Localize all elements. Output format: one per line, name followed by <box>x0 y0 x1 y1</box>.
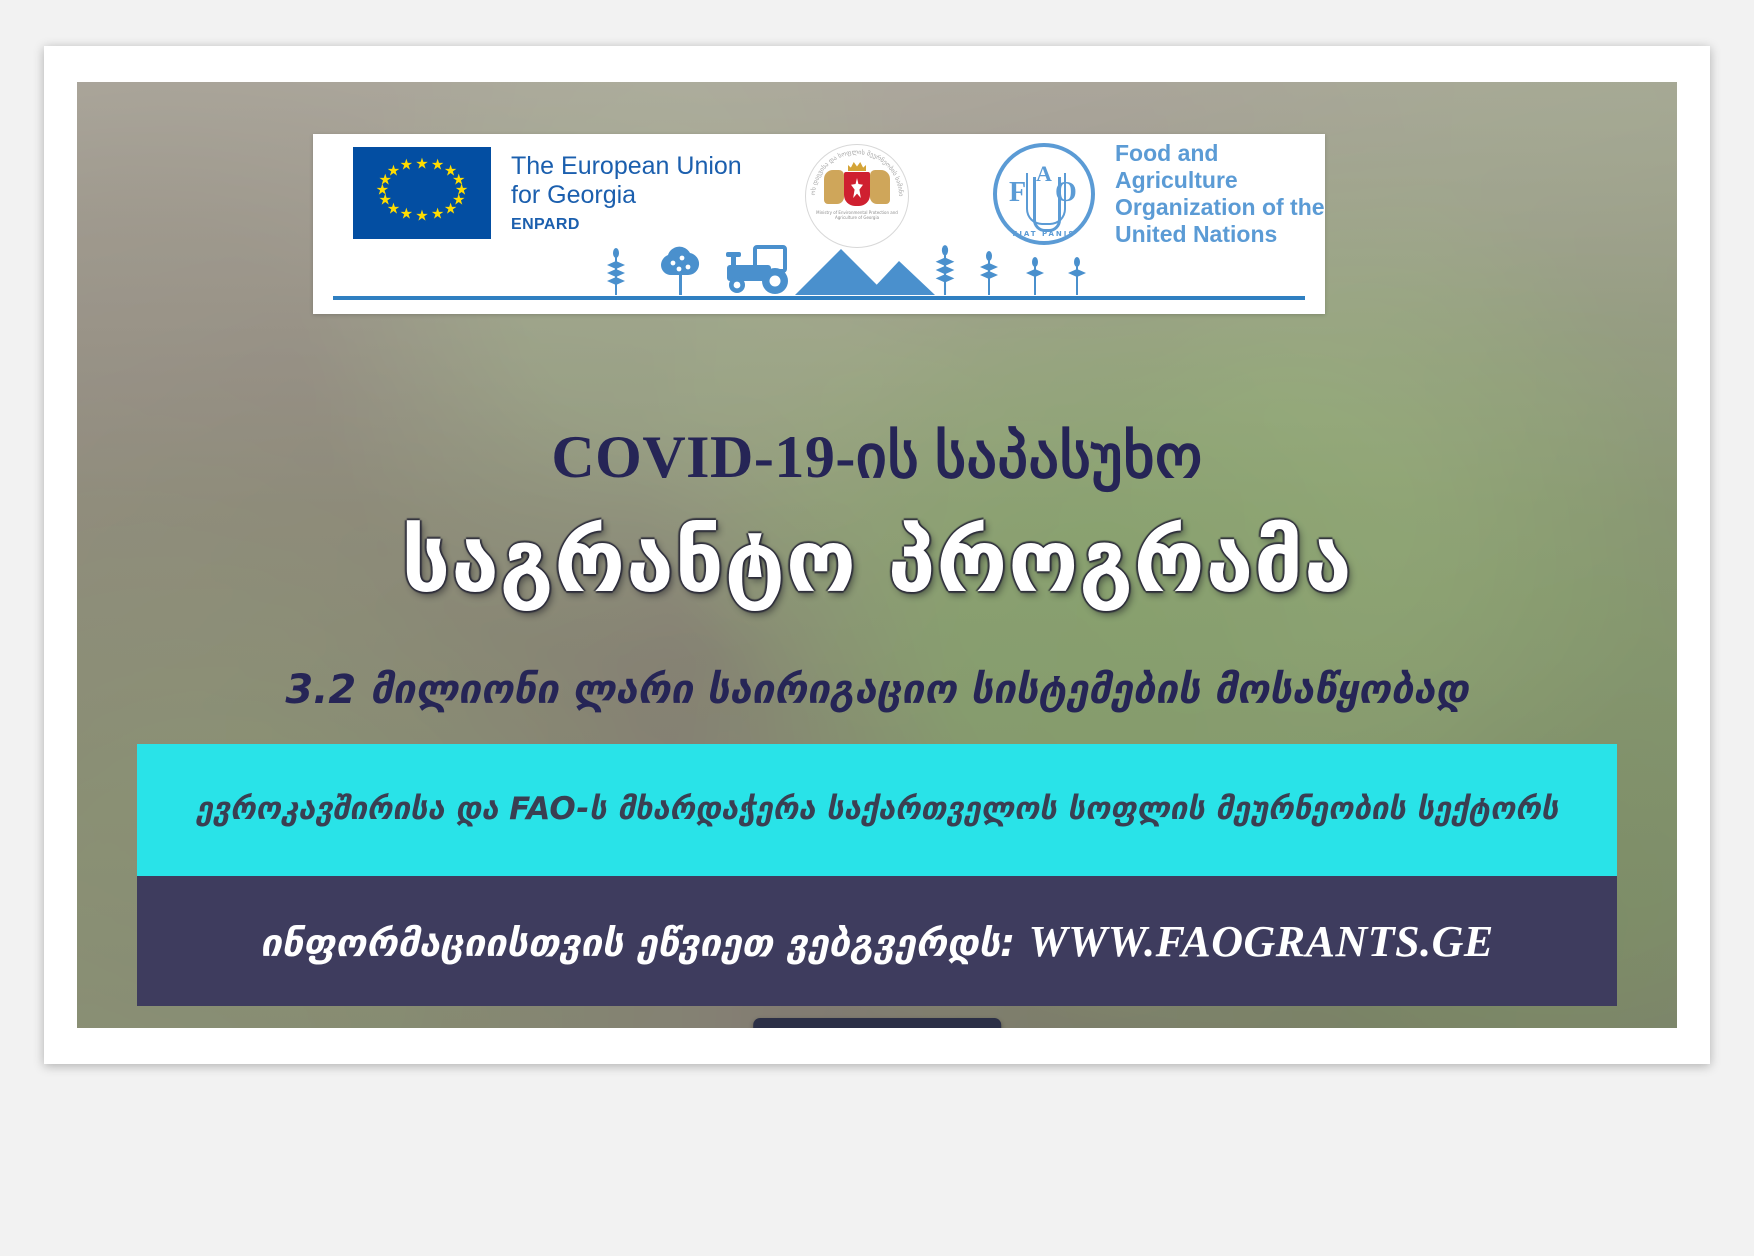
emblem-lion-left <box>824 170 844 204</box>
wheat-icon <box>933 243 957 295</box>
support-banner-text: ევროკავშირისა და FAO-ს მხარდაჭერა საქართ… <box>170 791 1584 828</box>
stopcov-part-6: .ge <box>924 1026 981 1028</box>
logo-strip: ★ ★ ★ ★ ★ ★ ★ ★ ★ ★ ★ ★ ★ ★ ★ <box>313 134 1325 314</box>
page-title-main: საგრანტო პროგრამა <box>77 512 1677 612</box>
website-banner: ინფორმაციისთვის ეწვიეთ ვებგვერდს: WWW.FA… <box>137 876 1617 1006</box>
wheat-icon <box>977 249 1001 295</box>
stopcov-part-5: V <box>903 1026 924 1028</box>
stopcov-part-2: o <box>812 1026 834 1028</box>
slide-canvas: ★ ★ ★ ★ ★ ★ ★ ★ ★ ★ ★ ★ ★ ★ ★ <box>44 46 1710 1064</box>
farm-pictogram-band <box>333 240 1305 300</box>
support-banner: ევროკავშირისა და FAO-ს მხარდაჭერა საქართ… <box>137 744 1617 876</box>
stopcov-part-4: o <box>881 1026 903 1028</box>
fao-motto: FIAT PANIS <box>997 230 1091 238</box>
fao-letter-f: F <box>1009 177 1026 209</box>
page-subtitle: 3.2 მილიონი ლარი საირიგაციო სისტემების მ… <box>137 667 1617 713</box>
fao-logo: F A O FIAT PANIS Food and Agriculture Or… <box>993 140 1325 248</box>
emblem-lion-right <box>870 170 890 204</box>
website-banner-label: ინფორმაციისთვის ეწვიეთ ვებგვერდს: <box>260 921 1015 965</box>
ministry-emblem-icon: გარემოს დაცვისა და სოფლის მეურნეობის სამ… <box>805 144 909 248</box>
website-url[interactable]: WWW.FAOGRANTS.GE <box>1028 917 1493 966</box>
page-title-covid: COVID-19-ის საპასუხო <box>77 422 1677 492</box>
fao-logo-text: Food and Agriculture Organization of the… <box>1115 140 1325 248</box>
stopcov-part-3: pC <box>834 1026 881 1028</box>
fao-line-2: Organization of the <box>1115 194 1325 221</box>
tractor-icon <box>715 243 797 295</box>
emblem-shield <box>844 172 870 206</box>
wheat-icon <box>1065 255 1089 295</box>
poster-image: ★ ★ ★ ★ ★ ★ ★ ★ ★ ★ ★ ★ ★ ★ ★ <box>77 82 1677 1028</box>
eu-logo-text: The European Union for Georgia ENPARD <box>511 152 742 234</box>
fao-letter-o: O <box>1055 177 1077 209</box>
tree-icon <box>653 243 709 295</box>
fao-line-1: Food and Agriculture <box>1115 140 1325 194</box>
eu-line-2: for Georgia <box>511 181 742 210</box>
fao-emblem-icon: F A O FIAT PANIS <box>993 143 1095 245</box>
emblem-caption: Ministry of Environmental Protection and… <box>805 210 909 220</box>
stopcov-part-1: St <box>773 1026 812 1028</box>
mountain-icon <box>795 243 935 295</box>
eu-programme-label: ENPARD <box>511 216 742 234</box>
logo-row: ★ ★ ★ ★ ★ ★ ★ ★ ★ ★ ★ ★ ★ ★ ★ <box>313 134 1325 252</box>
wheat-icon <box>605 245 627 295</box>
eu-flag-icon: ★ ★ ★ ★ ★ ★ ★ ★ ★ ★ ★ ★ ★ ★ ★ <box>353 147 491 239</box>
wheat-icon <box>1023 255 1047 295</box>
ground-line <box>333 296 1305 300</box>
website-banner-text: ინფორმაციისთვის ეწვიეთ ვებგვერდს: WWW.FA… <box>234 916 1520 967</box>
stopcov-badge[interactable]: StopCoV.ge <box>753 1018 1001 1028</box>
european-union-logo: ★ ★ ★ ★ ★ ★ ★ ★ ★ ★ ★ ★ ★ ★ ★ <box>353 147 742 239</box>
fao-letter-a: A <box>1036 161 1052 187</box>
eu-line-1: The European Union <box>511 152 742 181</box>
